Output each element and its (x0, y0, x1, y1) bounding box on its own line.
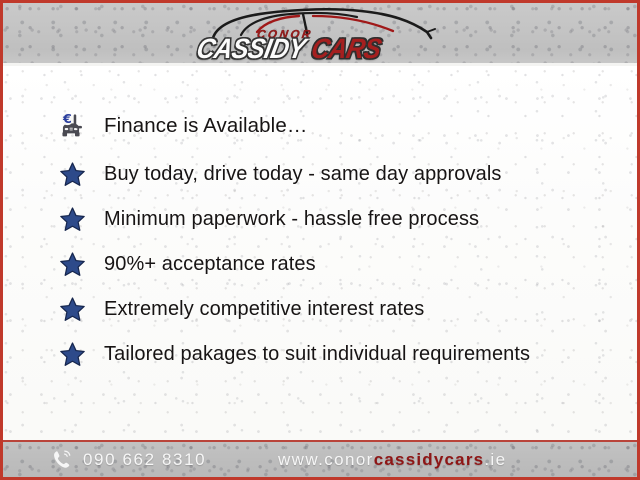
list-item-label: Extremely competitive interest rates (104, 298, 424, 321)
list-item-label: 90%+ acceptance rates (104, 253, 316, 276)
star-bullet-icon (58, 296, 86, 324)
header-band: CONOR CASSIDY CARS (3, 3, 637, 63)
star-bullet-icon (59, 251, 86, 278)
list-item: Extremely competitive interest rates (3, 287, 637, 332)
website-suffix: .ie (484, 450, 506, 470)
euro-car-finance-icon: € (58, 109, 86, 143)
phone-contact[interactable]: 090 662 8310 (51, 442, 206, 477)
star-bullet-icon (58, 251, 86, 279)
star-bullet-icon (58, 206, 86, 234)
website-url[interactable]: www.conor cassidycars .ie (278, 442, 506, 477)
star-bullet-icon (58, 161, 86, 189)
svg-text:€: € (62, 112, 72, 127)
phone-number: 090 662 8310 (83, 450, 206, 470)
phone-ringing-icon (51, 448, 74, 471)
star-bullet-icon (59, 341, 86, 368)
star-bullet-icon (59, 161, 86, 188)
list-item-label: Tailored pakages to suit individual requ… (104, 343, 530, 366)
list-item: Tailored pakages to suit individual requ… (3, 332, 637, 377)
advert-poster: CONOR CASSIDY CARS €Finance is Available… (0, 0, 640, 480)
website-accent: cassidycars (374, 450, 485, 470)
logo-wordmark: CASSIDY CARS (194, 33, 384, 63)
list-item-label: Finance is Available… (104, 114, 307, 138)
list-item: 90%+ acceptance rates (3, 242, 637, 287)
star-bullet-icon (59, 206, 86, 233)
website-prefix: www.conor (278, 450, 374, 470)
list-item-label: Buy today, drive today - same day approv… (104, 163, 501, 186)
euro-car-finance-icon: € (58, 112, 86, 140)
star-bullet-icon (59, 296, 86, 323)
footer-band: 090 662 8310 www.conor cassidycars .ie (3, 442, 637, 477)
list-item: €Finance is Available… (3, 100, 637, 152)
footer-content: 090 662 8310 www.conor cassidycars .ie (3, 442, 637, 477)
benefits-list: €Finance is Available…Buy today, drive t… (3, 66, 637, 377)
logo-name-light: CASSIDY (194, 33, 308, 63)
content-area: €Finance is Available…Buy today, drive t… (3, 66, 637, 440)
list-item: Buy today, drive today - same day approv… (3, 152, 637, 197)
brand-logo[interactable]: CONOR CASSIDY CARS (195, 5, 445, 61)
logo-name-accent: CARS (308, 33, 383, 63)
list-item: Minimum paperwork - hassle free process (3, 197, 637, 242)
star-bullet-icon (58, 341, 86, 369)
list-item-label: Minimum paperwork - hassle free process (104, 208, 479, 231)
